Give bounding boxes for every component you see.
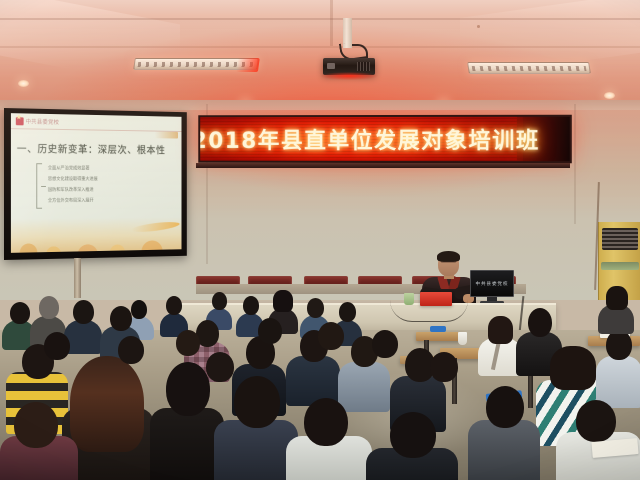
slide-title: 一、历史新变革：深层次、根本性 <box>17 140 181 156</box>
audience-member <box>286 398 372 480</box>
person-head <box>528 308 552 337</box>
ac-panel-band <box>601 262 639 270</box>
slide-surface: 中共县委党校 一、历史新变革：深层次、根本性 全面从严治党成效显著 思想文化建设… <box>11 113 182 253</box>
person-hair <box>550 346 596 390</box>
student-desk[interactable] <box>416 332 462 341</box>
led-banner-text: 2018年县直单位发展对象培训班 <box>208 117 523 161</box>
audience-member <box>598 286 634 330</box>
slide-bracket <box>36 163 42 209</box>
slide-org-label: 中共县委党校 <box>26 117 60 126</box>
ceiling-seam <box>0 18 640 20</box>
person-head <box>10 302 30 324</box>
audience-member <box>0 402 78 480</box>
downlight <box>18 80 29 87</box>
monitor-screen: 中共县委党校 <box>470 270 514 297</box>
ceiling <box>0 0 640 108</box>
slide-corner-ornament <box>155 132 178 139</box>
person-torso <box>468 420 540 480</box>
person-head <box>304 398 348 446</box>
screen-support-pole <box>74 258 81 298</box>
person-hair <box>606 286 628 310</box>
audience-member <box>64 300 102 348</box>
monitor-screen-text: 中共县委党校 <box>476 281 509 287</box>
person-head <box>166 362 210 416</box>
lecture-hall-photo: 中共县委党校 一、历史新变革：深层次、根本性 全面从严治党成效显著 思想文化建设… <box>0 0 640 480</box>
person-head <box>258 318 282 344</box>
slide-bullet: 国防和军队改革深入推进 <box>48 185 150 196</box>
party-emblem-icon <box>16 117 24 125</box>
ac-vent-grille <box>602 228 638 250</box>
projection-screen: 中共县委党校 一、历史新变革：深层次、根本性 全面从严治党成效显著 思想文化建设… <box>4 108 187 260</box>
blue-item[interactable] <box>430 326 446 332</box>
downlight <box>604 92 615 99</box>
person-head <box>243 296 259 315</box>
person-torso <box>150 408 224 480</box>
linear-light-fixture-right <box>467 62 591 74</box>
ceiling-drop-edge <box>0 46 640 48</box>
slide-bullet: 全方位外交布局深入展开 <box>48 195 150 206</box>
audience-member <box>468 386 540 480</box>
person-head <box>486 386 524 428</box>
person-head-grey <box>39 296 59 319</box>
table-cable <box>390 300 468 322</box>
person-head <box>339 302 356 322</box>
person-hair <box>488 316 513 344</box>
person-head <box>110 306 132 331</box>
person-head <box>430 352 458 382</box>
projector-lens <box>327 63 335 69</box>
led-banner-bezel <box>196 163 570 168</box>
person-hair <box>70 356 144 452</box>
person-head <box>166 296 182 315</box>
person-head <box>390 412 436 458</box>
person-head <box>14 402 58 448</box>
person-head <box>234 376 280 428</box>
led-banner: 2018年县直单位发展对象培训班 <box>198 115 572 164</box>
slide-header: 中共县委党校 <box>11 113 182 132</box>
ceiling-fitting <box>477 25 480 28</box>
person-head <box>372 330 398 358</box>
person-head <box>44 332 70 360</box>
ceiling-seam-vertical <box>330 0 333 46</box>
person-head <box>118 336 144 364</box>
person-head <box>212 292 227 310</box>
projector-indicator-glow <box>320 72 378 80</box>
person-head <box>576 400 616 442</box>
wall-seam <box>574 104 576 224</box>
drinking-cup[interactable] <box>458 332 467 345</box>
person-hair <box>273 290 293 312</box>
slide-bullet: 全面从严治党成效显著 <box>48 163 150 174</box>
person-head <box>73 300 94 324</box>
slide-bullet-list: 全面从严治党成效显著 思想文化建设取得重大进展 国防和军队改革深入推进 全方位外… <box>48 163 150 206</box>
desk-monitor[interactable]: 中共县委党校 <box>470 270 514 304</box>
person-head <box>206 352 234 382</box>
person-head <box>176 330 200 356</box>
projector-vent <box>357 62 370 71</box>
presenter-face-shadow <box>441 261 456 263</box>
linear-light-fixture-left <box>133 58 259 70</box>
audience-member <box>596 330 640 404</box>
audience-member <box>366 412 458 480</box>
person-head <box>318 322 344 350</box>
slide-bullet: 思想文化建设取得重大进展 <box>48 174 150 185</box>
wall-cornice <box>0 100 640 110</box>
person-head <box>606 330 632 360</box>
person-head <box>307 298 324 318</box>
